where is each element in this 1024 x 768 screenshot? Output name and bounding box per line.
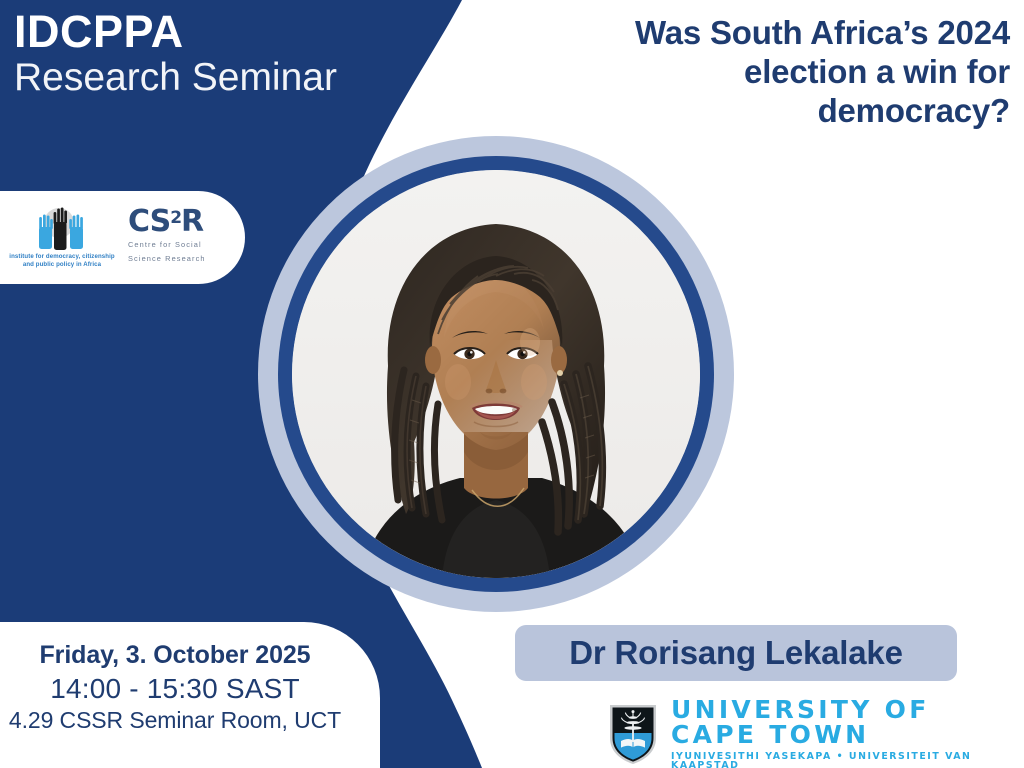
portrait-photo bbox=[292, 170, 700, 578]
brand-acronym: IDCPPA bbox=[14, 8, 444, 55]
idcppa-caption: institute for democracy, citizenship and… bbox=[6, 253, 118, 270]
cssr-caption-line2: Science Research bbox=[128, 253, 206, 264]
uct-text-block: UNIVERSITY OF CAPE TOWN IYUNIVESITHI YAS… bbox=[671, 697, 1024, 768]
cssr-logo: CS2R Centre for Social Science Research bbox=[128, 207, 206, 263]
page-title: Was South Africa’s 2024 election a win f… bbox=[620, 14, 1010, 131]
speaker-name-badge: Dr Rorisang Lekalake bbox=[515, 625, 957, 681]
event-venue: 4.29 CSSR Seminar Room, UCT bbox=[0, 706, 350, 736]
event-time: 14:00 - 15:30 SAST bbox=[0, 671, 350, 706]
seminar-poster: IDCPPA Research Seminar Was South Africa… bbox=[0, 0, 1024, 768]
brand-subtitle: Research Seminar bbox=[14, 57, 444, 100]
uct-logo: UNIVERSITY OF CAPE TOWN IYUNIVESITHI YAS… bbox=[607, 697, 1024, 768]
raised-hands-icon bbox=[26, 206, 98, 252]
speaker-name: Dr Rorisang Lekalake bbox=[569, 634, 902, 672]
cssr-wordmark-superscript: 2 bbox=[170, 208, 181, 228]
event-info-panel: Friday, 3. October 2025 14:00 - 15:30 SA… bbox=[0, 622, 380, 768]
brand-block: IDCPPA Research Seminar bbox=[14, 8, 444, 100]
partner-logos-panel: institute for democracy, citizenship and… bbox=[0, 191, 245, 284]
cssr-caption-line1: Centre for Social bbox=[128, 239, 202, 250]
speaker-portrait bbox=[258, 136, 734, 612]
uct-shield-icon bbox=[607, 702, 659, 766]
uct-name: UNIVERSITY OF CAPE TOWN bbox=[671, 697, 1024, 747]
uct-tagline: IYUNIVESITHI YASEKAPA • UNIVERSITEIT VAN… bbox=[671, 752, 1024, 768]
event-date: Friday, 3. October 2025 bbox=[0, 640, 350, 671]
cssr-wordmark-r: R bbox=[181, 204, 203, 239]
idcppa-logo: institute for democracy, citizenship and… bbox=[6, 206, 118, 270]
cssr-wordmark: CS2R bbox=[128, 207, 203, 237]
cssr-wordmark-cs: CS bbox=[128, 204, 170, 239]
